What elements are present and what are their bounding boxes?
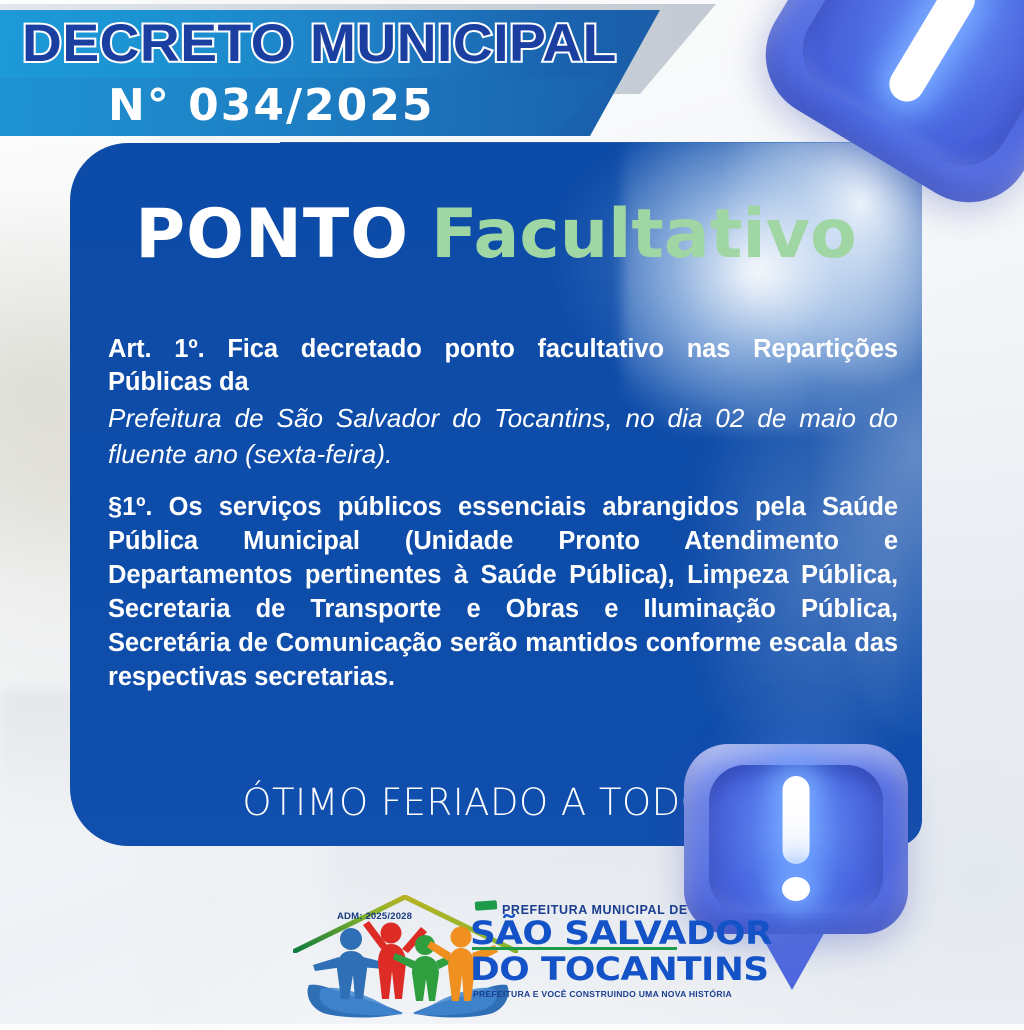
decree-card: PONTOFacultativo Art. 1º. Fica decretado… (70, 143, 922, 846)
heading-word-ponto: PONTO (135, 195, 409, 274)
exclamation-bubble-icon (684, 744, 908, 934)
article-1-bold-text: Art. 1º. Fica decretado ponto facultativ… (108, 333, 898, 399)
logo-green-accent (475, 900, 498, 911)
heading-word-facultativo: Facultativo (431, 195, 857, 274)
paragraph-1-text: §1º. Os serviços públicos essenciais abr… (108, 491, 898, 694)
card-heading: PONTOFacultativo (70, 195, 922, 274)
logo-wordmark: PREFEITURA MUNICIPAL DE SÃO SALVADOR DO … (470, 895, 685, 1013)
bubble-glyph-bar (783, 776, 810, 863)
logo-tagline: PREFEITURA E VOCÊ CONSTRUINDO UMA NOVA H… (473, 989, 732, 999)
page-title: DECRETO MUNICIPAL (22, 13, 617, 74)
decree-body: Art. 1º. Fica decretado ponto facultativ… (108, 333, 898, 694)
bubble-glyph-dot (782, 877, 810, 901)
city-hall-logo: ADM: 2025/2028 PREFEITURA MUNICIPAL DE S… (285, 895, 685, 1024)
logo-city-line-2: DO TOCANTINS (470, 950, 769, 988)
decree-number: N° 034/2025 (108, 80, 435, 131)
article-1-italic-text: Prefeitura de São Salvador do Tocantins,… (108, 401, 898, 472)
